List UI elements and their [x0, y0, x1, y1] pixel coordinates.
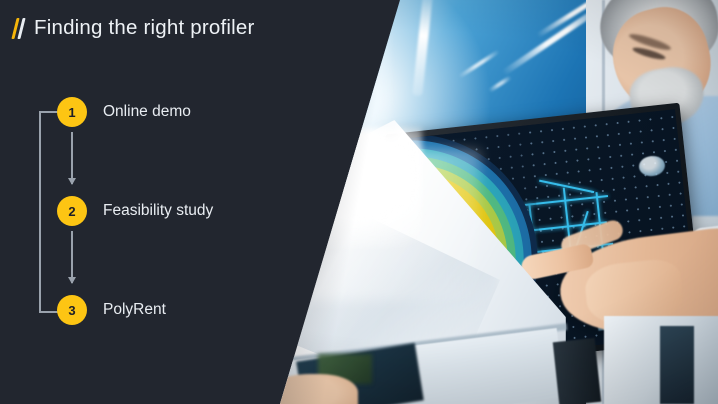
- process-step-2[interactable]: 2 Feasibility study: [57, 196, 213, 226]
- double-slash-icon: [14, 17, 23, 39]
- step-number-badge: 3: [57, 295, 87, 325]
- step-number-badge: 2: [57, 196, 87, 226]
- step-label: PolyRent: [103, 301, 166, 319]
- process-step-1[interactable]: 1 Online demo: [57, 97, 191, 127]
- flow-arrow-2-3: [71, 231, 73, 283]
- slide-root: Finding the right profiler 1 Online demo…: [0, 0, 718, 404]
- monitor-stand: [553, 338, 601, 404]
- step-number-badge: 1: [57, 97, 87, 127]
- content-panel: Finding the right profiler 1 Online demo…: [0, 0, 410, 404]
- process-step-3[interactable]: 3 PolyRent: [57, 295, 166, 325]
- flow-arrow-1-2: [71, 132, 73, 184]
- step-label: Online demo: [103, 103, 191, 121]
- lab-instrument-panel: [660, 326, 694, 404]
- slide-title-row: Finding the right profiler: [14, 16, 255, 40]
- page-title: Finding the right profiler: [34, 16, 255, 40]
- step-label: Feasibility study: [103, 202, 213, 220]
